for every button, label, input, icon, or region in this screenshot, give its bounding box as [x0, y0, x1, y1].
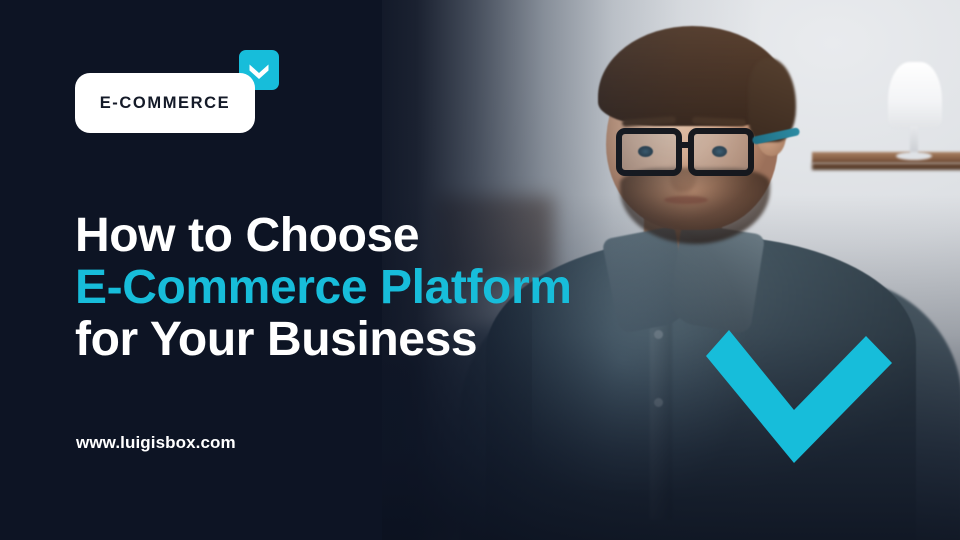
- page-title: How to Choose E-Commerce Platform for Yo…: [75, 210, 695, 366]
- checkmark-icon: [706, 300, 892, 470]
- headline-line-3: for Your Business: [75, 314, 695, 366]
- eyeglasses-lens-right: [688, 128, 754, 176]
- chevron-down-icon: [247, 61, 271, 79]
- eyeglasses-lens-left: [616, 128, 682, 176]
- headline-line-2: E-Commerce Platform: [75, 262, 695, 314]
- badge-pill: E-COMMERCE: [75, 73, 255, 133]
- category-badge[interactable]: E-COMMERCE: [75, 50, 279, 134]
- website-url[interactable]: www.luigisbox.com: [76, 433, 236, 453]
- lips: [664, 196, 708, 204]
- promo-banner: E-COMMERCE How to Choose E-Commerce Plat…: [0, 0, 960, 540]
- shirt-button: [654, 398, 663, 407]
- badge-label: E-COMMERCE: [100, 94, 231, 113]
- headline-line-1: How to Choose: [75, 210, 695, 262]
- eyeglasses-bridge: [682, 142, 690, 148]
